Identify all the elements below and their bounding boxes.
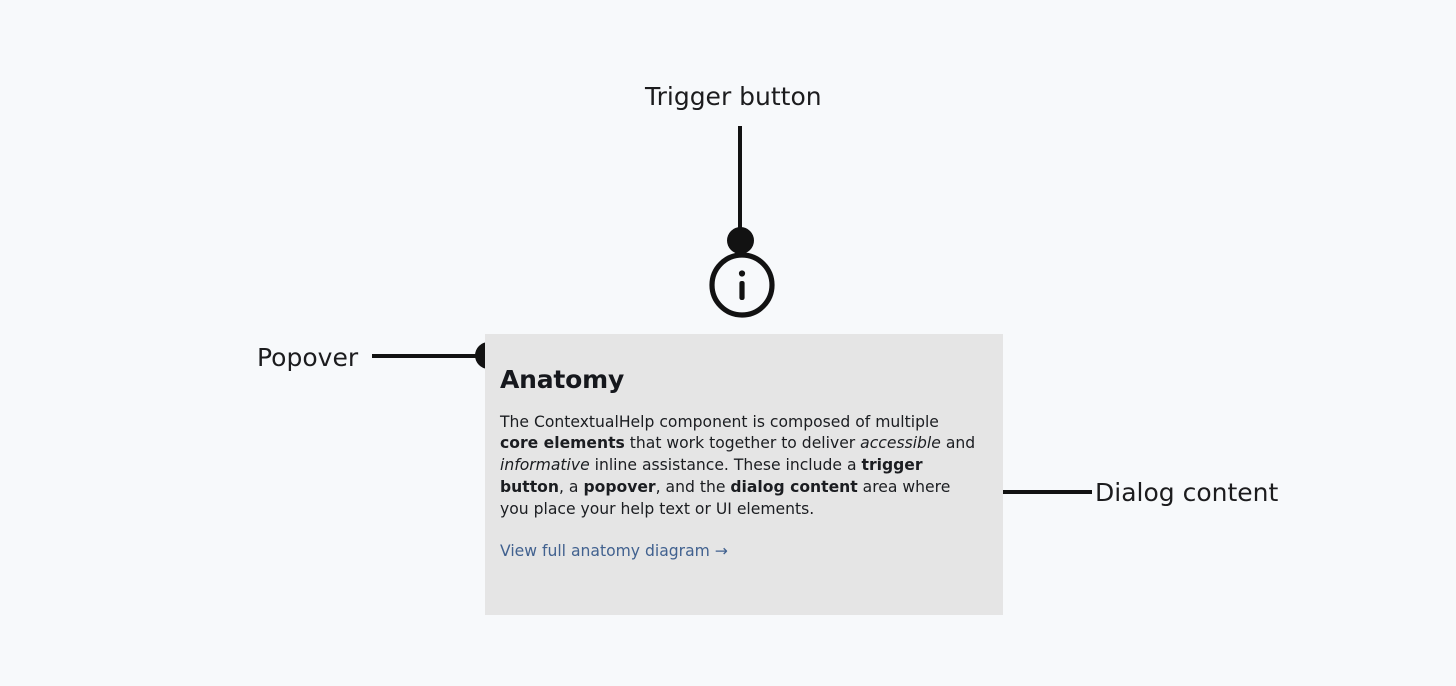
callout-label-trigger-button: Trigger button xyxy=(645,84,822,109)
callout-label-dialog-content: Dialog content xyxy=(1095,480,1278,505)
view-full-anatomy-diagram-link[interactable]: View full anatomy diagram → xyxy=(500,541,728,562)
popover-card: Anatomy The ContextualHelp component is … xyxy=(485,334,1003,615)
callout-label-popover: Popover xyxy=(257,345,358,370)
anatomy-diagram: Trigger button Popover Dialog content An… xyxy=(0,0,1456,686)
info-circle-icon-trigger-button[interactable] xyxy=(708,251,776,319)
popover-body-text: The ContextualHelp component is composed… xyxy=(500,412,979,521)
leader-dot-trigger-button xyxy=(727,227,754,254)
popover-title: Anatomy xyxy=(500,366,979,394)
leader-line-popover xyxy=(372,354,490,358)
leader-line-trigger-button xyxy=(738,126,742,242)
